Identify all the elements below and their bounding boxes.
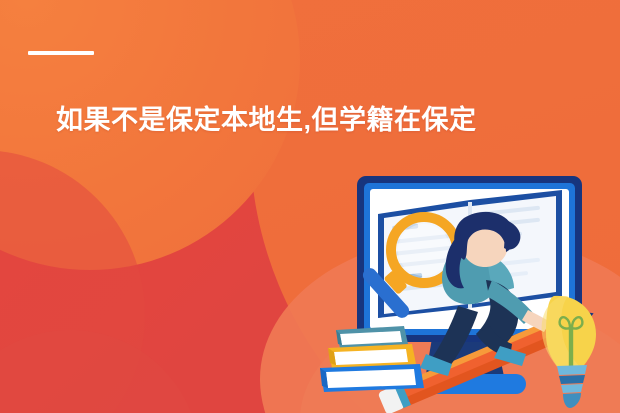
lightbulb-icon <box>542 296 596 408</box>
book-bottom <box>320 364 424 392</box>
promo-banner: 如果不是保定本地生,但学籍在保定 <box>0 0 620 413</box>
title-divider-rule <box>28 51 94 55</box>
book-middle <box>328 344 416 368</box>
book-top <box>336 326 408 348</box>
online-learning-illustration <box>300 168 620 413</box>
page-title: 如果不是保定本地生,但学籍在保定 <box>56 104 477 136</box>
